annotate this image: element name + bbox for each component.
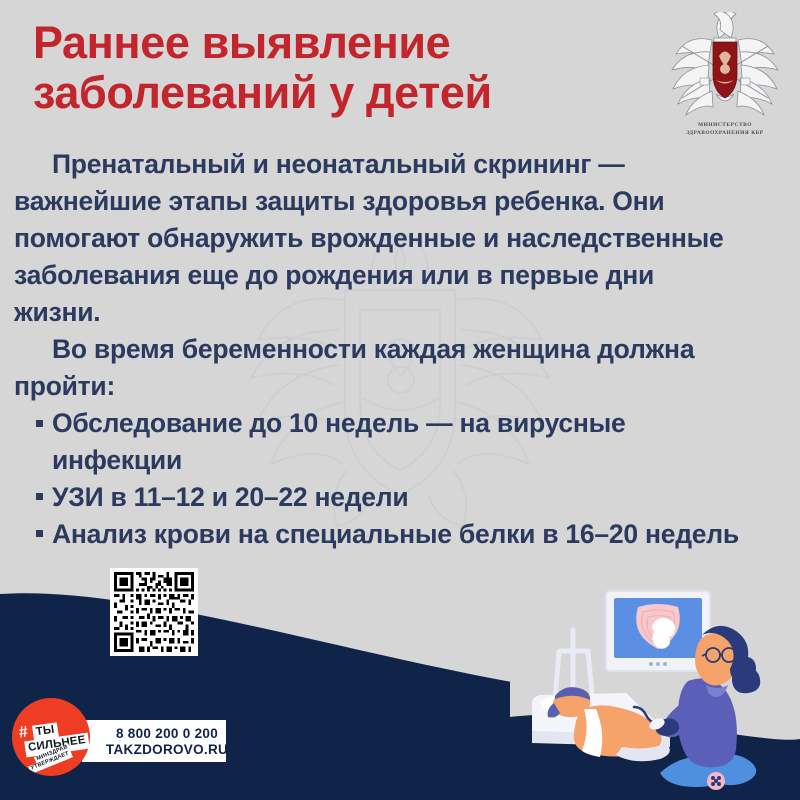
list-item: Обследование до 10 недель — на вирусные … bbox=[14, 405, 746, 479]
list-item-label: Обследование до 10 недель — на вирусные … bbox=[52, 408, 626, 475]
emblem-caption-line-1: МИНИСТЕРСТВО bbox=[666, 121, 784, 129]
bullet-square-icon bbox=[36, 420, 43, 427]
double-headed-eagle-icon bbox=[666, 12, 784, 120]
qr-code[interactable] bbox=[110, 568, 198, 656]
list-item: Анализ крови на специальные белки в 16–2… bbox=[14, 516, 746, 553]
poster-header: Раннее выявление заболеваний у детей bbox=[0, 0, 800, 150]
contact-info-plate: 8 800 200 0 200 TAKZDOROVO.RU bbox=[82, 720, 226, 762]
body-copy: Пренатальный и неонатальный скрининг — в… bbox=[0, 146, 760, 552]
list-item-label: УЗИ в 11–12 и 20–22 недели bbox=[52, 482, 408, 512]
hotline-phone[interactable]: 8 800 200 0 200 bbox=[90, 726, 218, 741]
ministry-emblem: МИНИСТЕРСТВО ЗДРАВООХРАНЕНИЯ КБР bbox=[666, 12, 784, 146]
paragraph-pregnancy: Во время беременности каждая женщина дол… bbox=[14, 331, 746, 405]
page-title: Раннее выявление заболеваний у детей bbox=[33, 18, 653, 119]
qr-code-icon bbox=[114, 572, 194, 652]
emblem-caption-line-2: ЗДРАВООХРАНЕНИЯ КБР bbox=[666, 129, 784, 137]
paragraph-intro: Пренатальный и неонатальный скрининг — в… bbox=[14, 146, 746, 331]
ultrasound-examination-illustration bbox=[510, 585, 800, 800]
poster-root: Раннее выявление заболеваний у детей bbox=[0, 0, 800, 800]
title-line-2: заболеваний у детей bbox=[33, 68, 653, 118]
emblem-caption: МИНИСТЕРСТВО ЗДРАВООХРАНЕНИЯ КБР bbox=[666, 121, 784, 137]
screening-list: Обследование до 10 недель — на вирусные … bbox=[14, 405, 746, 553]
list-item: УЗИ в 11–12 и 20–22 недели bbox=[14, 479, 746, 516]
bullet-square-icon bbox=[36, 493, 43, 500]
list-item-label: Анализ крови на специальные белки в 16–2… bbox=[52, 519, 739, 549]
badge-hash: # bbox=[18, 724, 29, 741]
website-url[interactable]: TAKZDOROVO.RU bbox=[80, 742, 228, 757]
bullet-square-icon bbox=[36, 530, 43, 537]
ty-silnee-badge: # ТЫ СИЛЬНЕЕ МИНЗДРАВ УТВЕРЖДАЕТ bbox=[12, 698, 90, 776]
title-line-1: Раннее выявление bbox=[33, 18, 653, 68]
